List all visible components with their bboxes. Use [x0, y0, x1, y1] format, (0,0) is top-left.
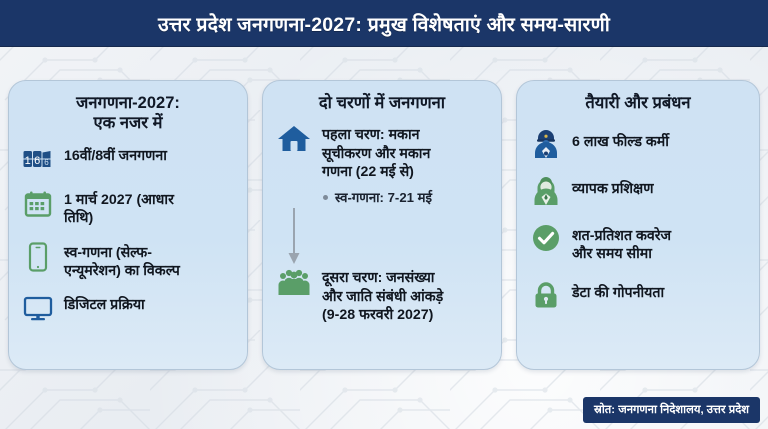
page-title: उत्तर प्रदेश जनगणना-2027: प्रमुख विशेषता… — [158, 10, 610, 37]
svg-text:1: 1 — [25, 155, 31, 167]
trainer-icon — [531, 176, 561, 206]
list-item: व्यापक प्रशिक्षण — [531, 176, 745, 206]
infographic-poster: उत्तर प्रदेश जनगणना-2027: प्रमुख विशेषता… — [0, 0, 768, 429]
list-item: डेटा की गोपनीयता — [531, 280, 745, 310]
list-item-label: डेटा की गोपनीयता — [572, 280, 664, 302]
card-overview-title: जनगणना-2027: एक नजर में — [23, 93, 233, 133]
card-overview: जनगणना-2027: एक नजर में 1 6 — [8, 80, 248, 370]
list-item: शत-प्रतिशत कवरेज और समय सीमा — [531, 223, 745, 263]
list-item-label: 16वीं/8वीं जनगणना — [64, 145, 167, 165]
list-item-label: व्यापक प्रशिक्षण — [572, 176, 653, 198]
card-phases-title: दो चरणों में जनगणना — [277, 93, 487, 113]
house-icon — [277, 125, 311, 153]
calendar-icon — [23, 189, 53, 219]
sub-bullet-label: स्व-गणना: 7-21 मई — [335, 188, 432, 206]
list-item-label: स्व-गणना (सेल्फ- एन्यूमरेशन) का विकल्प — [64, 242, 180, 280]
counter-16-icon: 1 6 6 — [23, 145, 53, 175]
cards-container: जनगणना-2027: एक नजर में 1 6 — [0, 80, 768, 370]
card-preparation-title: तैयारी और प्रबंधन — [531, 93, 745, 113]
check-circle-icon — [531, 223, 561, 253]
phase-one: पहला चरण: मकान सूचीकरण और मकान गणना (22 … — [277, 125, 487, 181]
people-group-icon — [277, 268, 311, 296]
card-phases: दो चरणों में जनगणना पहला चरण: मकान सूचीक… — [262, 80, 502, 370]
phase-two-label: दूसरा चरण: जनसंख्या और जाति संबंधी आंकड़… — [322, 268, 443, 324]
list-item: 1 6 6 16वीं/8वीं जनगणना — [23, 145, 233, 175]
list-item-label: 1 मार्च 2027 (आधार तिथि) — [64, 189, 174, 227]
card-preparation: तैयारी और प्रबंधन 6 — [516, 80, 760, 370]
list-item-label: डिजिटल प्रक्रिया — [64, 294, 145, 314]
bullet-dot-icon — [323, 195, 328, 200]
officer-icon — [531, 129, 561, 159]
card-overview-list: 1 6 6 16वीं/8वीं जनगणना — [23, 145, 233, 338]
list-item-label: 6 लाख फील्ड कर्मी — [572, 129, 669, 151]
header-bar: उत्तर प्रदेश जनगणना-2027: प्रमुख विशेषता… — [0, 0, 768, 46]
phase-one-label: पहला चरण: मकान सूचीकरण और मकान गणना (22 … — [322, 125, 430, 181]
list-item: 1 मार्च 2027 (आधार तिथि) — [23, 189, 233, 227]
phase-connector — [277, 206, 311, 268]
card-preparation-list: 6 लाख फील्ड कर्मी व्यापक प्रशिक्ष — [531, 129, 745, 327]
phase-two: दूसरा चरण: जनसंख्या और जाति संबंधी आंकड़… — [277, 268, 487, 324]
list-item-label: शत-प्रतिशत कवरेज और समय सीमा — [572, 223, 671, 263]
down-arrow-icon — [287, 208, 301, 266]
sub-bullet-self-enumeration: स्व-गणना: 7-21 मई — [323, 188, 487, 206]
svg-text:6: 6 — [44, 158, 49, 167]
mobile-phone-icon — [23, 242, 53, 272]
source-badge: स्रोत: जनगणना निदेशालय, उत्तर प्रदेश — [583, 397, 760, 423]
monitor-icon — [23, 294, 53, 324]
list-item: स्व-गणना (सेल्फ- एन्यूमरेशन) का विकल्प — [23, 242, 233, 280]
lock-icon — [531, 280, 561, 310]
list-item: डिजिटल प्रक्रिया — [23, 294, 233, 324]
list-item: 6 लाख फील्ड कर्मी — [531, 129, 745, 159]
svg-text:6: 6 — [34, 155, 40, 167]
